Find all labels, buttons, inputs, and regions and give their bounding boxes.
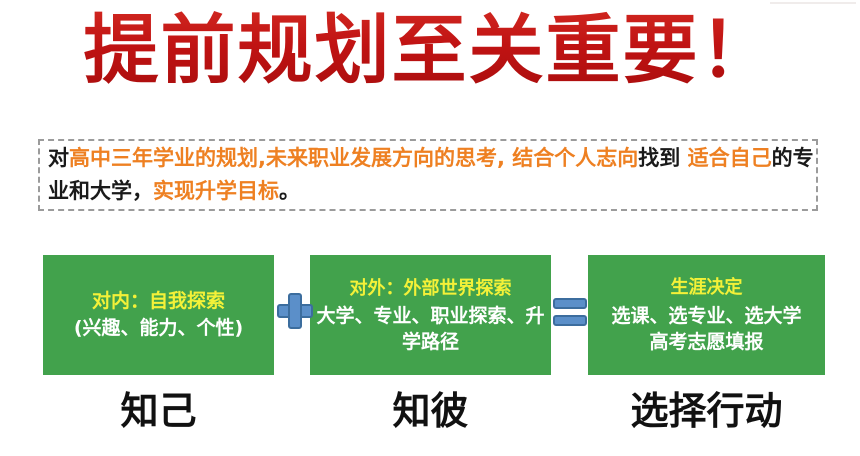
statement-line-1: 对高中三年学业的规划,未来职业发展方向的思考, 结合个人志向找到 bbox=[48, 146, 688, 170]
statement-seg-3: 找到 bbox=[638, 146, 680, 170]
statement-seg-1: 对 bbox=[48, 146, 69, 170]
box1-heading: 对内：自我探索 bbox=[92, 289, 225, 314]
concept-box-self-exploration: 对内：自我探索 (兴趣、能力、个性) bbox=[43, 255, 274, 375]
plus-icon bbox=[277, 293, 313, 329]
captions-row: 知己 知彼 选择行动 bbox=[0, 386, 860, 444]
plus-icon-vertical-bar bbox=[288, 293, 302, 329]
box3-heading: 生涯决定 bbox=[671, 275, 743, 300]
box1-body: (兴趣、能力、个性) bbox=[74, 315, 243, 341]
statement-seg-6: 实现升学目标 bbox=[153, 179, 279, 203]
statement-seg-2: 高中三年学业的规划,未来职业发展方向的思考, 结合个人志向 bbox=[69, 146, 638, 170]
equals-icon bbox=[553, 298, 587, 326]
page-title: 提前规划至关重要！ bbox=[0, 2, 860, 98]
caption-choose-action: 选择行动 bbox=[588, 386, 825, 436]
equals-icon-top-bar bbox=[553, 298, 587, 309]
caption-know-yourself: 知己 bbox=[43, 386, 274, 436]
statement-seg-4: 适合自己 bbox=[688, 146, 772, 170]
box2-body: 大学、专业、职业探索、升学路径 bbox=[310, 303, 551, 355]
box3-body: 选课、选专业、选大学高考志愿填报 bbox=[611, 303, 801, 355]
statement-text: 对高中三年学业的规划,未来职业发展方向的思考, 结合个人志向找到 适合自己的专业… bbox=[48, 142, 814, 208]
concept-boxes-row: 对内：自我探索 (兴趣、能力、个性) 对外：外部世界探索 大学、专业、职业探索、… bbox=[0, 255, 860, 375]
equals-icon-bottom-bar bbox=[553, 315, 587, 326]
box2-heading: 对外：外部世界探索 bbox=[350, 276, 512, 301]
concept-box-external-exploration: 对外：外部世界探索 大学、专业、职业探索、升学路径 bbox=[310, 255, 551, 375]
caption-know-others: 知彼 bbox=[310, 386, 551, 436]
concept-box-career-decision: 生涯决定 选课、选专业、选大学高考志愿填报 bbox=[588, 255, 825, 375]
statement-seg-7: 。 bbox=[279, 179, 300, 203]
